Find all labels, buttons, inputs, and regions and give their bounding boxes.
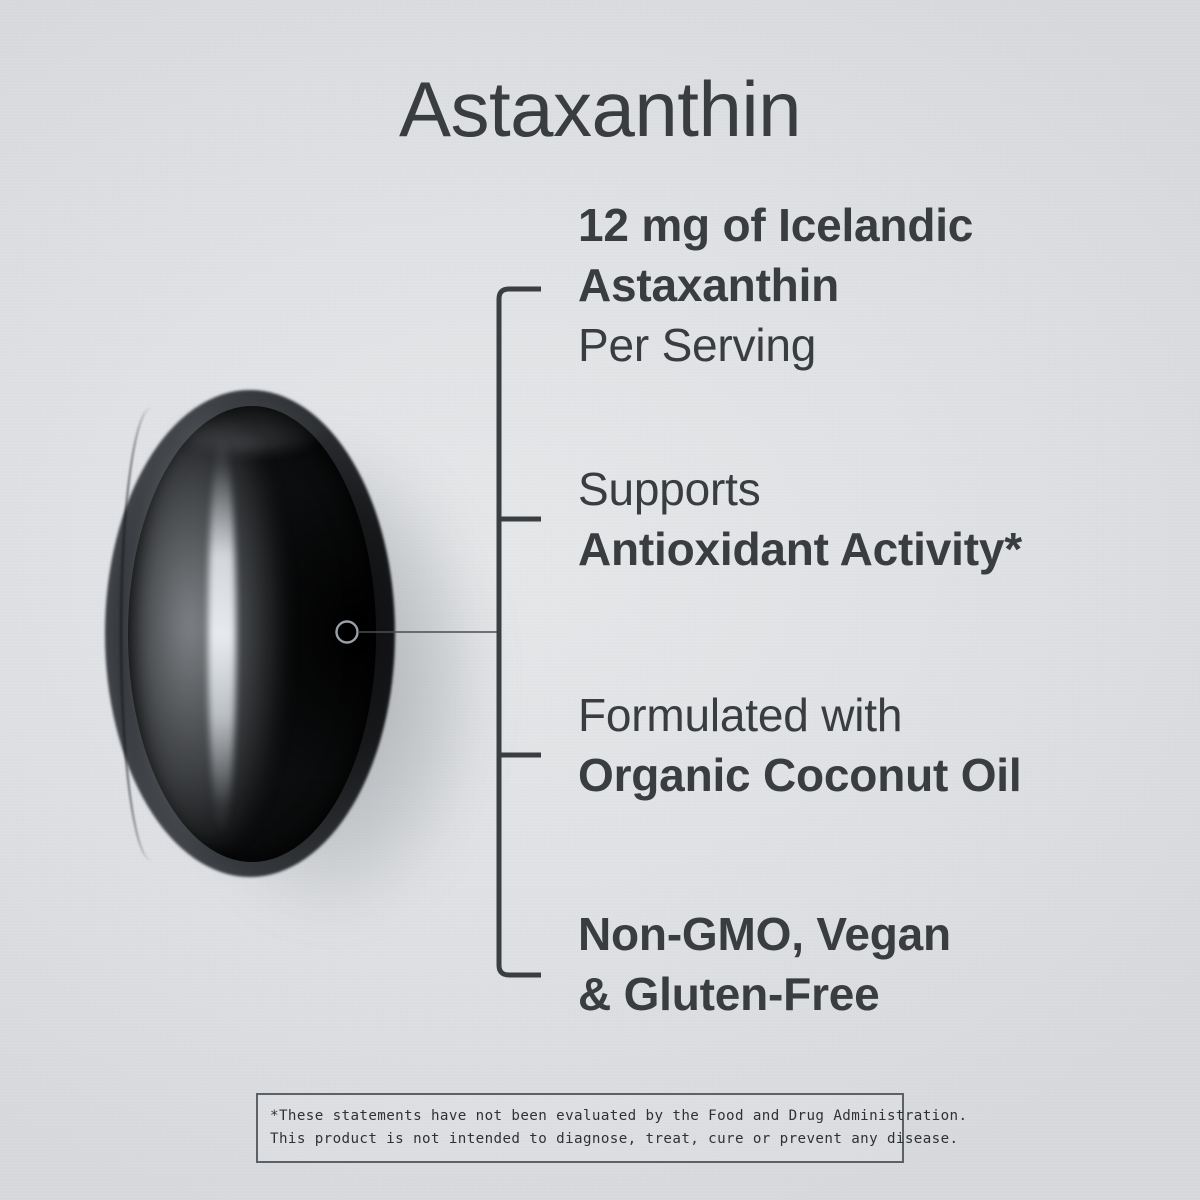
benefit-line: Organic Coconut Oil [578,746,1021,806]
benefit-dose: 12 mg of Icelandic Astaxanthin Per Servi… [578,196,973,375]
benefit-line: Supports [578,460,1022,520]
benefit-line: Formulated with [578,686,1021,746]
benefit-line: Per Serving [578,316,973,376]
disclaimer-line-1: *These statements have not been evaluate… [270,1105,890,1128]
capsule-top-rim-light [165,392,335,452]
benefit-line: 12 mg of Icelandic [578,196,973,256]
product-infographic: Astaxanthin 12 mg of Icelandic Astaxanth… [0,0,1200,1200]
capsule-specular-streak [208,436,236,836]
benefit-antioxidant: Supports Antioxidant Activity* [578,460,1022,580]
benefit-line: Astaxanthin [578,256,973,316]
benefit-certifications: Non-GMO, Vegan & Gluten-Free [578,905,951,1025]
product-capsule-image [60,350,530,930]
fda-disclaimer-box: *These statements have not been evaluate… [256,1093,904,1163]
benefit-line: Antioxidant Activity* [578,520,1022,580]
capsule-seam-line [120,408,182,860]
disclaimer-line-2: This product is not intended to diagnose… [270,1128,890,1151]
benefit-coconut-oil: Formulated with Organic Coconut Oil [578,686,1021,806]
benefit-line: & Gluten-Free [578,965,951,1025]
benefit-line: Non-GMO, Vegan [578,905,951,965]
page-title: Astaxanthin [0,70,1200,148]
